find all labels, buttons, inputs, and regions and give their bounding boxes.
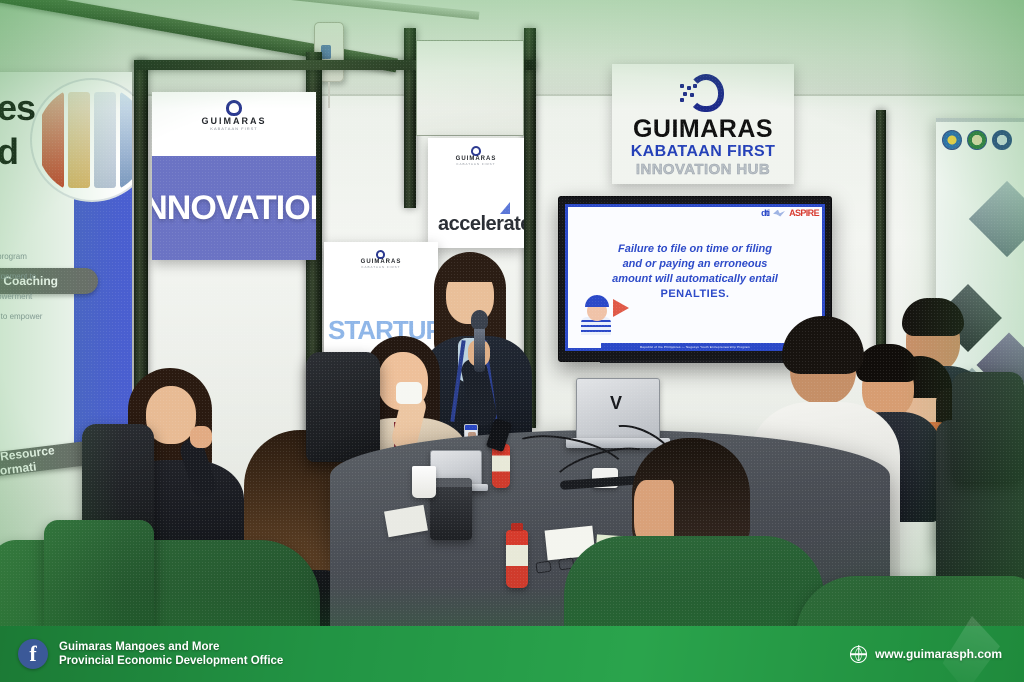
accelerate-arrow-icon bbox=[500, 202, 510, 214]
black-tumbler bbox=[430, 478, 472, 540]
poster-bullet-list: ng program evelopment to mpowerment ses … bbox=[0, 252, 106, 332]
banner-brand-sub: KABATAAN FIRST bbox=[202, 126, 267, 131]
hub-sign-line1: GUIMARAS bbox=[633, 117, 773, 142]
window-mullion-c bbox=[404, 28, 416, 208]
pixel-dots-icon bbox=[680, 84, 700, 102]
laptop-brand-icon: V bbox=[610, 394, 622, 412]
republic-seal-icon bbox=[942, 130, 962, 150]
poster-bullet: ses to empower bbox=[0, 312, 106, 321]
facebook-page-text: Guimaras Mangoes and More Provincial Eco… bbox=[59, 640, 283, 668]
province-seal-icon bbox=[967, 130, 987, 150]
hair bbox=[902, 298, 964, 336]
slide-logo-row: dti ASPIRE bbox=[761, 208, 819, 218]
facebook-office-name: Provincial Economic Development Office bbox=[59, 654, 283, 668]
facebook-icon[interactable]: f bbox=[18, 639, 48, 669]
banner-logo-startup: GUIMARAS KABATAAN FIRST bbox=[361, 250, 402, 269]
rollup-seal-row bbox=[942, 130, 1012, 150]
dti-logo: dti bbox=[761, 208, 769, 218]
aspire-logo: ASPIRE bbox=[789, 208, 819, 218]
hand-with-tissue bbox=[396, 382, 422, 404]
microphone-head-icon bbox=[471, 310, 488, 329]
poster-business-services: ces ed g and Coaching ng program evelopm… bbox=[0, 72, 132, 464]
hub-sign: GUIMARAS KABATAAN FIRST INNOVATION HUB bbox=[612, 64, 794, 184]
bangs bbox=[442, 260, 498, 282]
lightbulb-icon bbox=[471, 146, 481, 156]
poster-product-photo bbox=[32, 80, 132, 200]
banner-logo-accelerate: GUIMARAS KABATAAN FIRST bbox=[456, 146, 497, 166]
lightbulb-icon bbox=[226, 100, 242, 116]
photo-canvas: ces ed g and Coaching ng program evelopm… bbox=[0, 0, 1024, 682]
slide-surface: dti ASPIRE Failure to file on time or fi… bbox=[565, 204, 825, 351]
banner-word-accelerate: accelerate bbox=[438, 213, 524, 236]
paper-cup bbox=[412, 466, 436, 498]
slide-footer-caption: Republic of the Philippines — Negosyo Yo… bbox=[601, 343, 788, 350]
agency-seal-icon bbox=[992, 130, 1012, 150]
banner-brand-sub: KABATAAN FIRST bbox=[361, 265, 402, 269]
banner-brand: GUIMARAS bbox=[202, 116, 267, 126]
ac-cord bbox=[328, 82, 330, 108]
rollup-top-rail bbox=[936, 118, 1024, 122]
tumbler-lid bbox=[430, 478, 472, 487]
badge-header bbox=[465, 425, 477, 430]
banner-band-innovation: INNOVATION bbox=[152, 156, 316, 260]
ac-led-icon bbox=[321, 45, 331, 59]
banner-accelerate: GUIMARAS KABATAAN FIRST accelerate bbox=[428, 138, 524, 248]
footer-bar: f Guimaras Mangoes and More Provincial E… bbox=[0, 626, 1024, 682]
illustration-hair bbox=[585, 295, 609, 307]
hub-sign-line2: KABATAAN FIRST bbox=[631, 143, 776, 161]
hair bbox=[856, 344, 918, 382]
tv-stand bbox=[600, 360, 790, 363]
poster-heading-line1: ces bbox=[0, 87, 35, 128]
lightbulb-head-icon bbox=[680, 74, 726, 114]
office-chair-right-2 bbox=[952, 372, 1024, 482]
banner-word-innovation: INNOVATION bbox=[152, 189, 316, 228]
lightbulb-icon bbox=[376, 250, 385, 259]
banner-innovation: GUIMARAS KABATAAN FIRST INNOVATION bbox=[152, 92, 316, 260]
hand bbox=[190, 426, 212, 448]
website-url[interactable]: www.guimarasph.com bbox=[875, 647, 1002, 661]
slide-line-1: Failure to file on time or filing bbox=[618, 243, 772, 255]
poster-heading-line2: ed bbox=[0, 131, 18, 172]
slide-body-text: Failure to file on time or filing and or… bbox=[575, 242, 815, 302]
swoosh-icon bbox=[773, 210, 785, 217]
poster-heading: ces ed bbox=[0, 86, 35, 174]
rollup-photo bbox=[969, 181, 1024, 257]
green-chair-front-left-2 bbox=[44, 520, 154, 640]
glass-panel-upper bbox=[416, 40, 524, 136]
website-credit-group[interactable]: www.guimarasph.com bbox=[850, 646, 1002, 663]
facebook-page-name: Guimaras Mangoes and More bbox=[59, 640, 283, 654]
megaphone-person-illustration bbox=[581, 295, 627, 335]
facebook-credit-group[interactable]: f Guimaras Mangoes and More Provincial E… bbox=[18, 639, 283, 669]
banner-brand-sub: KABATAAN FIRST bbox=[456, 162, 497, 166]
megaphone-icon bbox=[613, 299, 629, 317]
globe-icon bbox=[850, 646, 867, 663]
poster-bullet: mpowerment bbox=[0, 292, 106, 301]
slide-line-2: and or paying an erroneous bbox=[623, 258, 768, 270]
slide-line-3: amount will automatically entail bbox=[612, 273, 778, 285]
bottle-cap bbox=[511, 523, 523, 531]
poster-bullet: ng program bbox=[0, 252, 106, 261]
microphone-body bbox=[474, 326, 485, 372]
office-chair-center bbox=[306, 352, 380, 462]
hub-sign-line3: INNOVATION HUB bbox=[636, 162, 770, 179]
soda-bottle-red-2 bbox=[506, 530, 528, 588]
banner-logo-innovation: GUIMARAS KABATAAN FIRST bbox=[202, 100, 267, 131]
poster-bullet: evelopment to bbox=[0, 272, 106, 281]
